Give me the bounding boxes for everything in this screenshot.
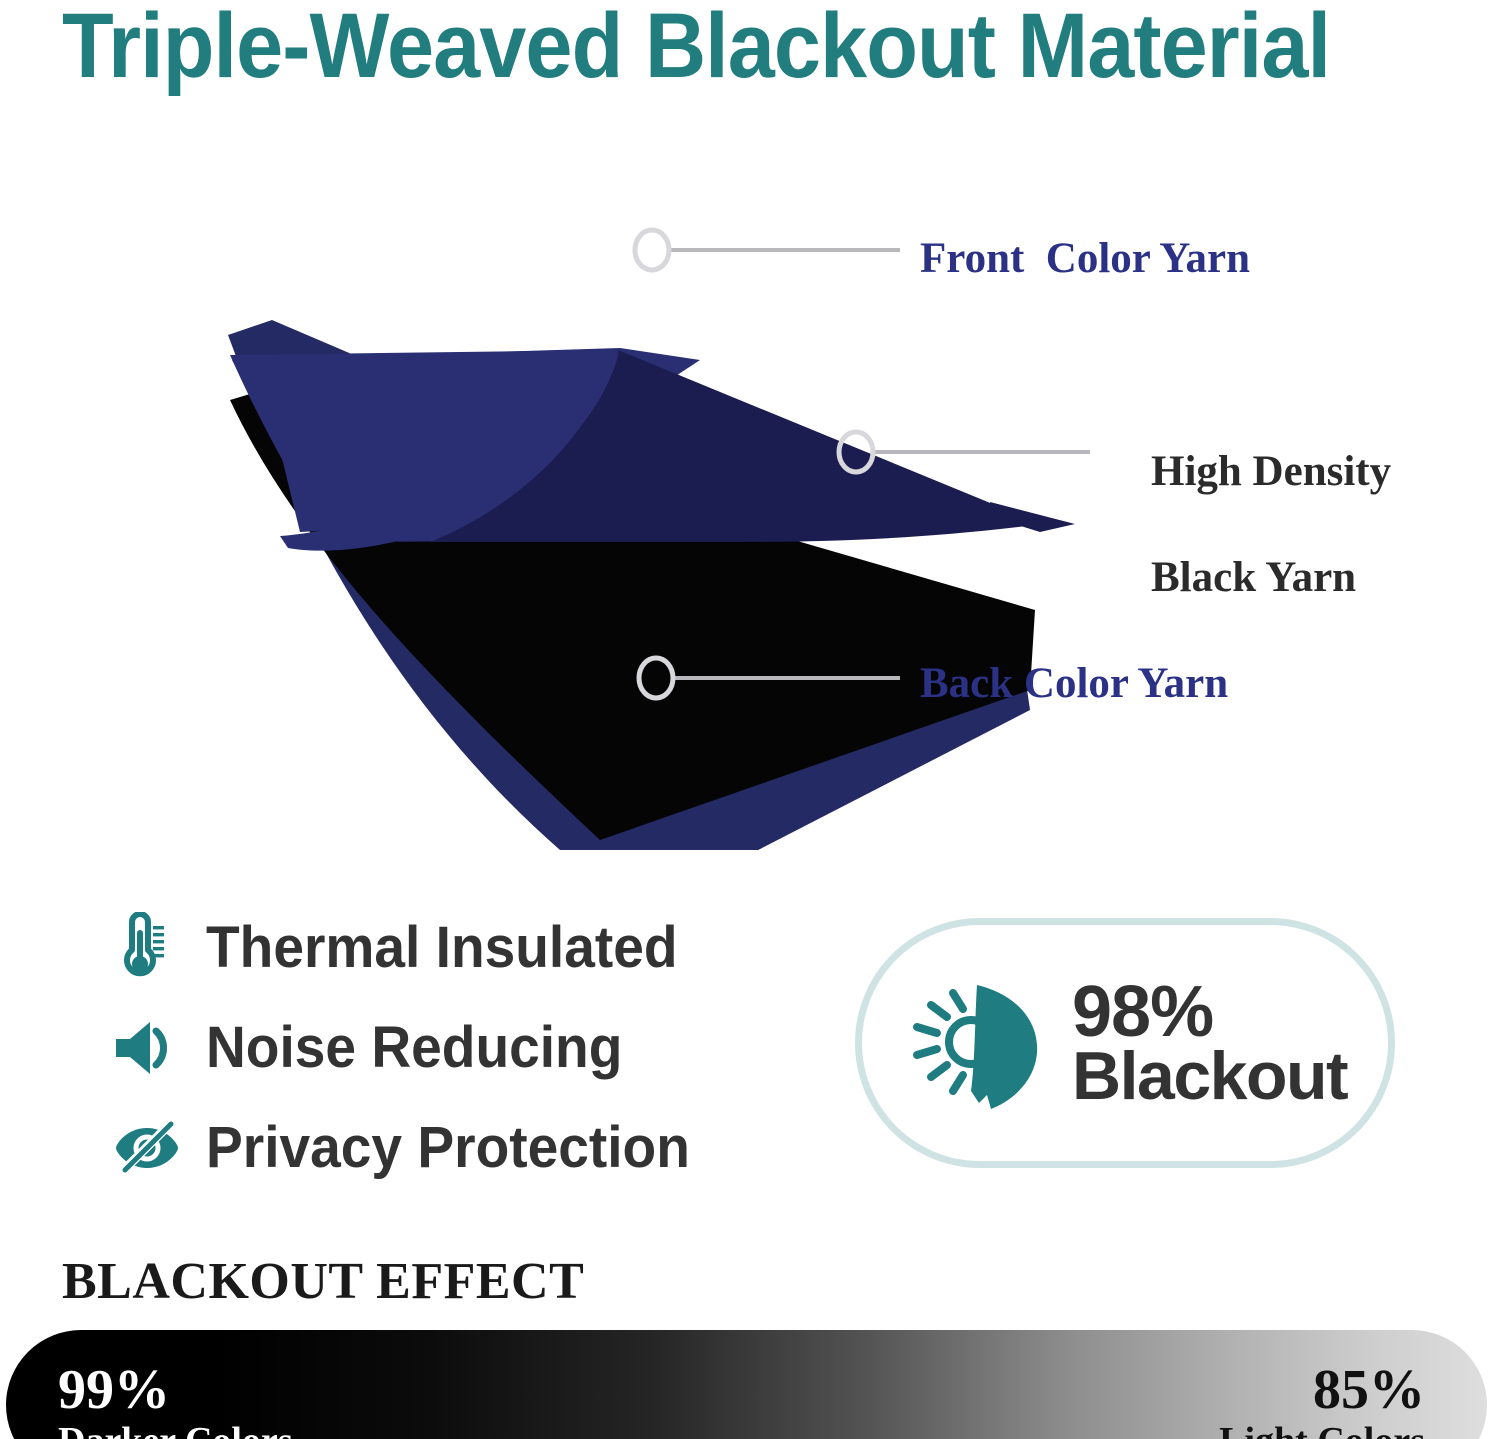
page-title: Triple-Weaved Blackout Material: [62, 0, 1330, 100]
callout-label-front-color-yarn: Front Color Yarn: [920, 232, 1250, 285]
callout-label-line2: Black Yarn: [1151, 554, 1356, 601]
feature-list: Thermal Insulated Noise Reducing Pri: [112, 898, 772, 1198]
feature-item-thermal-insulated: Thermal Insulated: [112, 898, 772, 998]
badge-text-block: 98% Blackout: [1072, 979, 1347, 1108]
callout-leader-front: [635, 230, 900, 270]
eye-slash-icon: [112, 1120, 184, 1176]
darker-colors-stat: 99% Darker Colors: [58, 1362, 293, 1439]
feature-item-noise-reducing: Noise Reducing: [112, 998, 772, 1098]
callout-label-back-color-yarn: Back Color Yarn: [920, 657, 1228, 710]
feature-item-privacy-protection: Privacy Protection: [112, 1098, 772, 1198]
badge-label: Blackout: [1072, 1045, 1347, 1108]
speaker-sound-icon: [112, 1017, 184, 1079]
callout-label-line1: High Density: [1151, 448, 1391, 495]
blackout-percentage-badge: 98% Blackout: [855, 918, 1395, 1168]
front-color-yarn-layer: [230, 348, 1075, 551]
blackout-effect-gradient-bar: 99% Darker Colors 85% Light Colors: [6, 1330, 1487, 1439]
feature-label: Thermal Insulated: [206, 917, 678, 979]
product-feature-infographic: Triple-Weaved Blackout Material: [0, 0, 1492, 1439]
thermometer-icon: [112, 912, 184, 984]
badge-percent: 98%: [1072, 979, 1347, 1045]
light-colors-percent: 85%: [1219, 1362, 1425, 1418]
blackout-effect-heading: BLACKOUT EFFECT: [62, 1253, 584, 1311]
feature-label: Noise Reducing: [206, 1017, 622, 1079]
callout-label-high-density-black-yarn: High Density Black Yarn: [1108, 392, 1391, 657]
darker-colors-caption: Darker Colors: [58, 1422, 293, 1439]
sun-blocked-by-curtain-icon: [862, 963, 1072, 1123]
darker-colors-percent: 99%: [58, 1362, 293, 1418]
light-colors-caption: Light Colors: [1219, 1422, 1425, 1439]
feature-label: Privacy Protection: [206, 1117, 690, 1179]
light-colors-stat: 85% Light Colors: [1219, 1362, 1425, 1439]
